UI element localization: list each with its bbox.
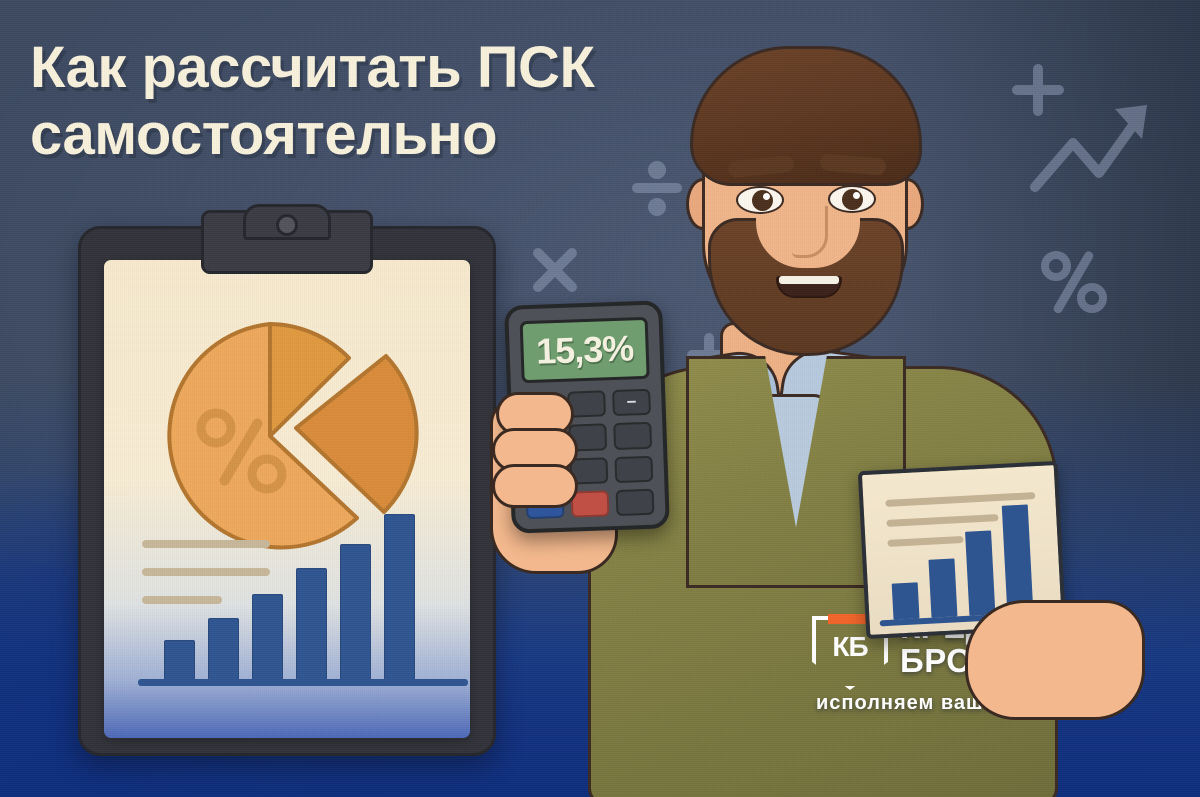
paper-bar-4 <box>1002 504 1034 613</box>
key-blank-8[interactable] <box>616 488 655 516</box>
calculator-display: 15,3% <box>520 317 650 383</box>
paper-text-line-3 <box>887 536 963 547</box>
hand-right-holding-paper <box>965 600 1145 720</box>
key-blank-7[interactable] <box>614 455 653 483</box>
paper-bar-1 <box>892 582 920 619</box>
calculator-display-value: 15,3% <box>535 327 633 372</box>
paper-text-line-2 <box>886 514 998 527</box>
key-minus[interactable]: − <box>612 389 651 417</box>
poster-canvas: Как рассчитать ПСК самостоятельно 15,3% <box>0 0 1200 797</box>
key-blank-5[interactable] <box>613 422 652 450</box>
finger-3 <box>492 464 578 508</box>
paper-bar-2 <box>928 558 957 617</box>
paper-bar-3 <box>965 530 995 615</box>
